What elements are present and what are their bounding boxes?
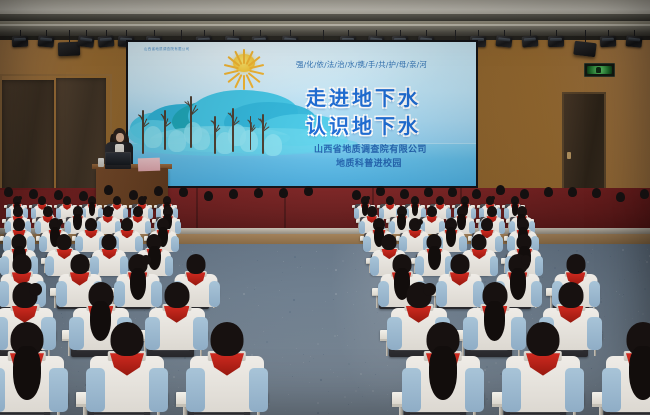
emergency-exit-sign — [584, 63, 615, 77]
student-head-far — [496, 185, 505, 195]
student-sleeve — [359, 221, 365, 234]
floor-fleck — [283, 261, 284, 262]
student-ponytail — [484, 301, 505, 341]
floor-fleck — [644, 288, 646, 290]
student-head — [211, 322, 244, 356]
presenter-laptop[interactable] — [105, 152, 131, 169]
student-head — [558, 282, 583, 308]
student-head — [13, 218, 25, 231]
student-head-far — [279, 188, 288, 198]
floor-fleck — [625, 319, 626, 320]
floor-fleck — [144, 310, 145, 311]
student-head-far — [616, 192, 625, 202]
laptop-screen — [106, 153, 130, 165]
student-hair-bun — [491, 196, 495, 200]
floor-fleck — [623, 294, 624, 295]
slide-content: 山西省地质调查院有限公司 强/化/依/法/治/水/携/手/共/护/母/亲/河 走… — [128, 42, 476, 186]
student-sleeve — [69, 317, 84, 350]
floor-fleck — [294, 256, 296, 258]
stage-light — [77, 35, 94, 48]
student — [190, 322, 264, 412]
student-head-far — [104, 185, 113, 195]
student-head — [566, 254, 585, 274]
floor-fleck — [101, 277, 103, 279]
student-head — [113, 196, 121, 205]
floor-fleck — [317, 402, 319, 404]
student-head — [111, 322, 144, 356]
floor-fleck — [320, 379, 322, 381]
student-sleeve — [402, 368, 421, 412]
student-head-far — [640, 189, 649, 199]
floor-fleck — [184, 357, 186, 359]
stage-light — [495, 35, 512, 48]
student-hair-bun — [423, 283, 436, 296]
floor-fleck — [619, 279, 620, 280]
floor-fleck — [146, 313, 147, 314]
floor-fleck — [282, 272, 283, 273]
slide-top-decor-text: 山西省地质调查院有限公司 — [144, 46, 190, 51]
student-sleeve — [249, 368, 268, 412]
student — [0, 322, 64, 412]
floor-fleck — [303, 362, 304, 363]
student-head — [38, 196, 46, 205]
student-hair-bun — [521, 255, 531, 265]
student-sleeve — [531, 281, 542, 307]
slide-title-line-1: 走进地下水 — [306, 82, 421, 111]
student-head-far — [254, 188, 263, 198]
student-head — [102, 234, 117, 250]
floor-fleck — [289, 311, 291, 313]
floor-fleck — [328, 413, 329, 414]
student-sleeve — [354, 208, 359, 219]
student-head-far — [568, 187, 577, 197]
light-yoke — [585, 30, 586, 42]
student-sleeve — [378, 281, 389, 307]
slide-bush — [228, 124, 246, 146]
floor-fleck — [542, 277, 543, 278]
sun-ray — [243, 75, 245, 90]
floor-fleck — [576, 250, 578, 252]
floor-fleck — [595, 385, 596, 386]
student-ponytail — [13, 346, 41, 399]
student-sleeve — [186, 368, 205, 412]
student — [90, 322, 164, 412]
floor-fleck — [62, 317, 63, 318]
floor-fleck — [558, 250, 559, 251]
floor-fleck — [178, 370, 179, 371]
student-sleeve — [171, 236, 178, 252]
floor-fleck — [484, 369, 486, 371]
floor-fleck — [293, 299, 295, 301]
floor-fleck — [632, 318, 633, 319]
student-ponytail — [89, 202, 96, 215]
floor-fleck — [317, 412, 319, 414]
floor-fleck — [622, 249, 624, 251]
floor-fleck — [488, 381, 490, 383]
left-wood-panel-1 — [2, 80, 54, 198]
student-sleeve — [502, 368, 521, 412]
student-ponytail — [629, 346, 650, 399]
floor-fleck — [604, 338, 605, 339]
student-sleeve — [363, 236, 370, 252]
floor-fleck — [76, 386, 77, 387]
slide-bush — [144, 126, 162, 148]
student-head-far — [229, 189, 238, 199]
student-hair-bun — [143, 196, 147, 200]
sun-ray — [243, 49, 245, 64]
student-sleeve — [45, 256, 54, 276]
floor-fleck — [257, 260, 258, 261]
student-head — [121, 218, 133, 231]
student-head — [472, 234, 487, 250]
floor-fleck — [591, 368, 592, 369]
student-sleeve — [56, 281, 67, 307]
student-head — [386, 196, 394, 205]
student-head — [164, 282, 189, 308]
student-head-far — [376, 186, 385, 196]
student-head-far — [544, 187, 553, 197]
student-head-far — [304, 186, 313, 196]
presenter-face — [116, 133, 124, 142]
student-sleeve — [39, 236, 46, 252]
student-hair-bun — [417, 219, 423, 225]
student-head — [186, 254, 205, 274]
slide-bush — [264, 134, 282, 156]
student-ponytail — [130, 268, 146, 299]
student-head — [43, 206, 53, 217]
student-hair-bun — [366, 196, 370, 200]
floor-fleck — [646, 261, 648, 263]
floor-fleck — [169, 374, 170, 375]
student-hair-bun — [57, 219, 63, 225]
student-sleeve — [370, 256, 379, 276]
student-ponytail — [429, 346, 457, 399]
student-sleeve — [149, 368, 168, 412]
floor-fleck — [328, 391, 329, 392]
stage-wall-seam-1 — [196, 188, 198, 230]
floor-fleck — [285, 410, 286, 411]
student-hair-bun — [18, 196, 22, 200]
slide-bush — [184, 122, 202, 144]
student-sleeve — [587, 317, 602, 350]
stage-light — [38, 35, 55, 47]
water-cup — [98, 158, 104, 167]
ceiling-band — [0, 14, 650, 21]
student-sleeve — [49, 368, 68, 412]
stage-light — [98, 35, 115, 47]
slide-subtitle-line-2: 地质科普进校园 — [336, 156, 402, 169]
student-head — [57, 234, 72, 250]
floor-fleck — [317, 343, 319, 345]
floor-fleck — [325, 301, 326, 302]
floor-fleck — [84, 387, 85, 388]
floor-fleck — [313, 358, 314, 359]
exit-sign-glow — [587, 66, 612, 74]
floor-fleck — [642, 313, 644, 315]
student-head — [487, 206, 497, 217]
floor-fleck — [292, 376, 293, 377]
student-sleeve — [602, 368, 621, 412]
floor-fleck — [173, 376, 175, 378]
student-head — [70, 254, 89, 274]
floor-fleck — [495, 362, 497, 364]
student-head — [63, 196, 71, 205]
floor-fleck — [600, 301, 602, 303]
student-head — [85, 218, 97, 231]
floor-fleck — [243, 293, 245, 295]
slide-subtitle-line-1: 山西省地质调查院有限公司 — [314, 142, 427, 155]
student-sleeve — [0, 368, 5, 412]
student-head — [450, 254, 469, 274]
student-head-far — [592, 188, 601, 198]
floor-fleck — [486, 366, 488, 368]
floor-fleck — [290, 364, 291, 365]
floor-fleck — [622, 296, 623, 297]
student — [406, 322, 480, 412]
student-sleeve — [387, 317, 402, 350]
light-yoke — [69, 30, 70, 42]
floor-fleck — [624, 279, 625, 280]
floor-fleck — [316, 251, 317, 252]
stage-light — [626, 35, 643, 47]
slide-title-line-2: 认识地下水 — [306, 110, 421, 139]
student-head-far — [179, 187, 188, 197]
stage-light — [548, 36, 564, 47]
door-handle-icon — [567, 152, 571, 159]
student-head — [427, 206, 437, 217]
floor-fleck — [296, 348, 297, 349]
floor-fleck — [266, 341, 268, 343]
student-head — [382, 234, 397, 250]
floor-fleck — [309, 361, 310, 362]
student-head — [12, 254, 31, 274]
floor-fleck — [288, 394, 289, 395]
floor-fleck — [312, 310, 313, 311]
stage-light — [600, 36, 617, 48]
floor-fleck — [282, 357, 283, 358]
student-head — [481, 218, 493, 231]
presenter-papers — [138, 158, 160, 172]
student-hair-bun — [109, 207, 114, 212]
student-sleeve — [495, 236, 502, 252]
student-head-far — [154, 186, 163, 196]
floor-fleck — [229, 298, 230, 299]
floor-fleck — [255, 287, 256, 288]
student-head — [133, 206, 143, 217]
student-sleeve — [86, 368, 105, 412]
floor-fleck — [135, 318, 136, 319]
floor-fleck — [616, 291, 617, 292]
lecture-hall-photo: 山西省地质调查院有限公司 强/化/依/法/治/水/携/手/共/护/母/亲/河 走… — [0, 0, 650, 415]
student-head — [436, 196, 444, 205]
floor-fleck — [592, 408, 593, 409]
stage-light — [12, 36, 28, 48]
student-head — [367, 206, 377, 217]
floor-fleck — [323, 354, 324, 355]
student-head — [527, 322, 560, 356]
student-hair-bun — [141, 255, 151, 265]
slide-banner-text: 强/化/依/法/治/水/携/手/共/护/母/亲/河 — [296, 59, 427, 70]
student — [606, 322, 650, 412]
student-hair-bun — [463, 207, 468, 212]
floor-fleck — [268, 403, 270, 405]
running-man-icon — [596, 67, 601, 73]
student-sleeve — [465, 368, 484, 412]
floor-fleck — [78, 371, 79, 372]
student-sleeve — [165, 256, 174, 276]
student-sleeve — [35, 221, 41, 234]
student-sleeve — [565, 368, 584, 412]
projection-screen: 山西省地质调查院有限公司 强/化/依/法/治/水/携/手/共/护/母/亲/河 走… — [126, 40, 478, 188]
student-head-far — [204, 191, 213, 201]
student-hair-bun — [29, 283, 42, 296]
student-head — [13, 206, 23, 217]
student-sleeve — [209, 281, 220, 307]
student — [506, 322, 580, 412]
stage-light — [522, 35, 539, 47]
stage-light — [573, 41, 597, 58]
